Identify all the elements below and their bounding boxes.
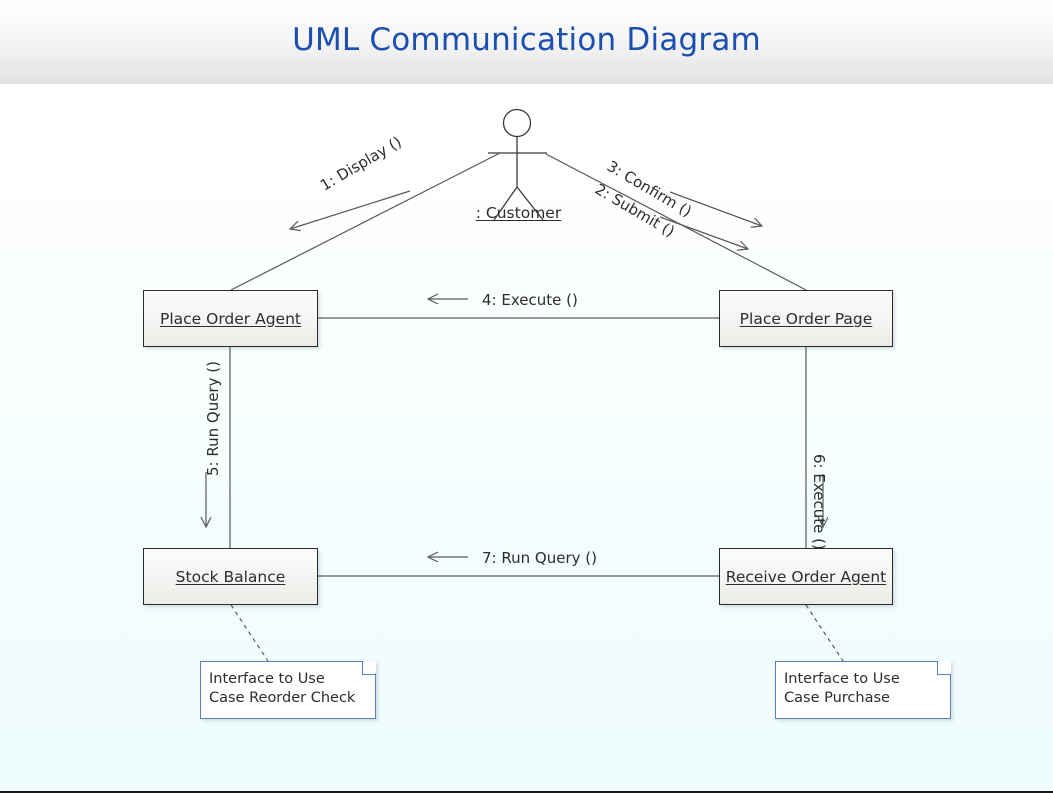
object-label: Stock Balance xyxy=(176,568,286,586)
object-place-order-page[interactable]: Place Order Page xyxy=(719,290,893,347)
note-line-2: Case Reorder Check xyxy=(209,689,355,708)
note-reorder-check[interactable]: Interface to Use Case Reorder Check xyxy=(200,661,376,719)
message-label-5-run-query: 5: Run Query () xyxy=(204,361,222,476)
object-place-order-agent[interactable]: Place Order Agent xyxy=(143,290,318,347)
note-purchase[interactable]: Interface to Use Case Purchase xyxy=(775,661,951,719)
note-line-1: Interface to Use xyxy=(784,670,900,689)
note-text: Interface to Use Case Purchase xyxy=(784,670,900,708)
note-anchor-reorder xyxy=(231,605,268,661)
note-folded-corner-icon xyxy=(362,661,376,675)
diagram-canvas[interactable]: : Customer Place Order Agent Place Order… xyxy=(0,84,1053,791)
note-text: Interface to Use Case Reorder Check xyxy=(209,670,355,708)
title-bar: UML Communication Diagram xyxy=(0,0,1053,84)
object-receive-order-agent[interactable]: Receive Order Agent xyxy=(719,548,893,605)
note-line-2: Case Purchase xyxy=(784,689,900,708)
note-folded-corner-icon xyxy=(937,661,951,675)
note-line-1: Interface to Use xyxy=(209,670,355,689)
link-submit-confirm xyxy=(546,154,806,290)
actor-customer-label: : Customer xyxy=(446,204,591,222)
object-stock-balance[interactable]: Stock Balance xyxy=(143,548,318,605)
message-label-4-execute: 4: Execute () xyxy=(482,291,578,309)
message-label-6-execute: 6: Execute () xyxy=(810,454,828,550)
object-label: Place Order Agent xyxy=(160,310,301,328)
object-label: Place Order Page xyxy=(740,310,873,328)
diagram-page: UML Communication Diagram xyxy=(0,0,1053,793)
page-title: UML Communication Diagram xyxy=(0,22,1053,58)
object-label: Receive Order Agent xyxy=(726,568,886,586)
note-anchor-purchase xyxy=(806,605,843,661)
message-label-7-run-query: 7: Run Query () xyxy=(482,549,597,567)
